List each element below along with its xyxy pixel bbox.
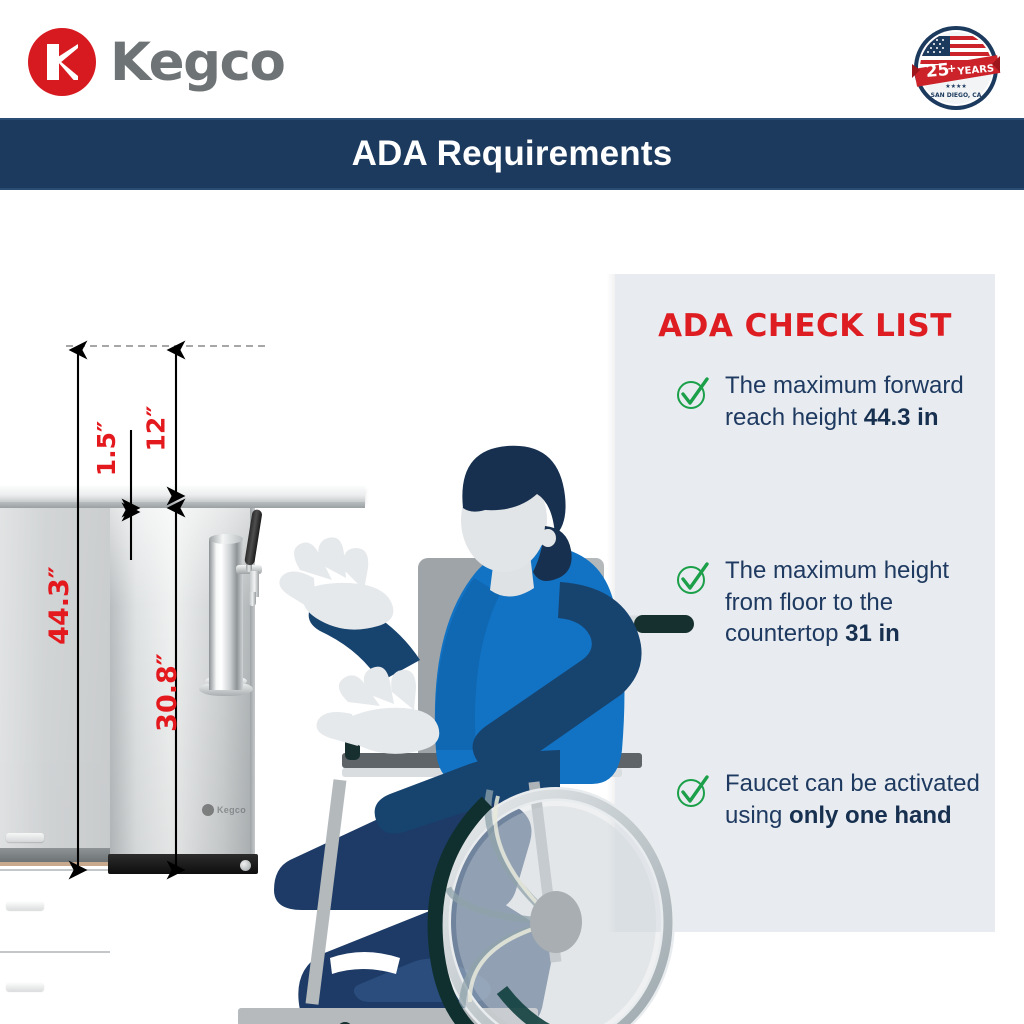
check-circle-icon <box>675 561 709 595</box>
checklist-item-text: Faucet can be activated using only one h… <box>725 768 995 831</box>
dimension-label-faucet-clearance: 1.5″ <box>92 421 121 476</box>
dimension-label-tower-height: 12″ <box>141 406 170 452</box>
badge-stars: ★★★★ <box>945 83 967 90</box>
badge-location: SAN DIEGO, CA <box>931 92 982 99</box>
checklist-item: The maximum forward reach height 44.3 in <box>675 370 995 433</box>
dimension-label-countertop-height: 30.8″ <box>152 653 183 732</box>
person-ear <box>540 529 556 547</box>
checklist-item-text: The maximum forward reach height 44.3 in <box>725 370 995 433</box>
brand-logo: Kegco <box>28 28 284 96</box>
person-hand-reaching <box>279 537 393 629</box>
dimension-label-forward-reach: 44.3″ <box>44 566 75 645</box>
check-circle-icon <box>675 376 709 410</box>
badge-plus: + <box>947 62 957 76</box>
anniversary-badge: 25 + YEARS ★★★★ SAN DIEGO, CA <box>910 22 1002 114</box>
checklist-item: Faucet can be activated using only one h… <box>675 768 995 831</box>
illustration-stage: ADA CHECK LIST Kegco <box>0 190 1024 1024</box>
brand-name: Kegco <box>110 32 284 93</box>
checklist-item: The maximum height from floor to the cou… <box>675 555 995 650</box>
page-header: Kegco <box>0 0 1024 118</box>
checklist-item-text: The maximum height from floor to the cou… <box>725 555 995 650</box>
check-circle-icon <box>675 774 709 808</box>
page-title-bar: ADA Requirements <box>0 118 1024 190</box>
page-title: ADA Requirements <box>352 134 673 174</box>
kegco-k-icon <box>28 28 96 96</box>
wheelchair-hub <box>530 891 582 953</box>
